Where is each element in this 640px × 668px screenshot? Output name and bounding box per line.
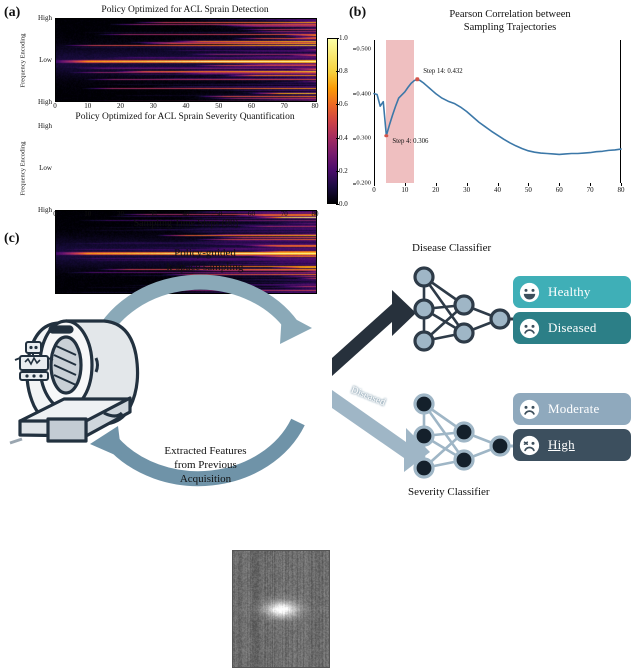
disease-classifier-title: Disease Classifier <box>412 242 491 254</box>
heatmap-2-ytick-2: High <box>38 206 52 214</box>
panel-b-title-line2: Sampling Trajectories <box>385 21 635 34</box>
panel-b-letter: (b) <box>349 5 366 21</box>
heatmap-1-xtick-5: 50 <box>215 102 222 110</box>
heatmap-2-xtick-1: 10 <box>84 210 91 218</box>
scanner-dash-1 <box>10 439 22 443</box>
plot-xtick-5: 50 <box>525 186 532 194</box>
heatmap-2-ytick-1: Low <box>39 164 52 172</box>
plot-xtickline-0 <box>374 183 375 186</box>
heatmap-1-yticks: High Low High <box>30 18 52 102</box>
heatmap-2-yticks: High Low High <box>30 126 52 210</box>
heatmap-1-xtick-2: 20 <box>117 102 124 110</box>
heatmap-1-xtick-6: 60 <box>248 102 255 110</box>
badge-high-label: High <box>548 437 575 453</box>
very-sad-face-icon <box>519 435 540 456</box>
heatmap-1-xtick-4: 40 <box>183 102 190 110</box>
heatmap-2-xtick-3: 30 <box>150 210 157 218</box>
heatmap-2-xtick-8: 80 <box>312 210 319 218</box>
annotation-label-1: Step 14: 0.432 <box>423 68 462 75</box>
kspace-image <box>232 550 330 668</box>
plot-xtick-2: 20 <box>432 186 439 194</box>
plot-xtick-1: 10 <box>401 186 408 194</box>
plot-xtick-4: 40 <box>494 186 501 194</box>
badge-diseased[interactable]: Diseased <box>513 312 631 344</box>
sad-face-icon <box>519 318 540 339</box>
cycle-bottom-line2: from Previous <box>118 458 293 472</box>
heatmap-2-xtick-4: 40 <box>183 210 190 218</box>
heatmap-1-xtick-3: 30 <box>150 102 157 110</box>
heatmap-2-xtick-7: 70 <box>281 210 288 218</box>
badge-healthy-label: Healthy <box>548 284 591 300</box>
plot-xtick-6: 60 <box>556 186 563 194</box>
cycle-bottom-line3: Acquisition <box>118 472 293 486</box>
plot-ytick-0: 0.200 <box>356 180 371 187</box>
panel-a: (a) Policy Optimized for ACL Sprain Dete… <box>0 0 345 228</box>
plot-xtickline-3 <box>467 183 468 186</box>
plot-xtickline-5 <box>528 183 529 186</box>
cycle-top-line1: Policy-guided <box>120 246 290 260</box>
panel-b: (b) Pearson Correlation between Sampling… <box>345 0 640 228</box>
panel-c-letter: (c) <box>4 231 20 247</box>
happy-face-icon <box>519 282 540 303</box>
correlation-plot: 0.2000.3000.4000.500 01020304050607080 S… <box>374 40 621 183</box>
correlation-line <box>374 40 621 183</box>
heatmap-2-ylabel: Frequency Encoding <box>20 141 27 195</box>
heatmap-1-xtick-0: 0 <box>53 102 57 110</box>
badge-diseased-label: Diseased <box>548 320 597 336</box>
disease-classifier-network <box>402 261 532 361</box>
plot-xtick-8: 80 <box>618 186 625 194</box>
panel-a-letter: (a) <box>4 5 20 21</box>
severity-classifier-title: Severity Classifier <box>408 486 490 498</box>
plot-xtickline-2 <box>436 183 437 186</box>
badge-healthy[interactable]: Healthy <box>513 276 631 308</box>
panel-b-title: Pearson Correlation between Sampling Tra… <box>385 8 635 34</box>
cycle-top-line2: k-space sampling <box>120 260 290 274</box>
heatmap-1-ytick-2: High <box>38 98 52 106</box>
heatmap-1-ylabel: Frequency Encoding <box>20 33 27 87</box>
top-arrowhead <box>280 312 312 344</box>
heatmap-1-ytick-1: Low <box>39 56 52 64</box>
plot-xtickline-1 <box>405 183 406 186</box>
heatmap-2-ytick-0: High <box>38 122 52 130</box>
plot-xtick-0: 0 <box>372 186 376 194</box>
plot-xtickline-7 <box>590 183 591 186</box>
heatmap-1-plot <box>55 18 317 102</box>
heatmap-1-canvas <box>56 19 317 102</box>
plot-xtickline-4 <box>498 183 499 186</box>
heatmap-2-xtick-6: 60 <box>248 210 255 218</box>
heatmap-1-ylabel-wrap: Frequency Encoding <box>16 22 30 98</box>
heatmap-2-xtick-5: 50 <box>215 210 222 218</box>
heatmap-2-xtick-2: 20 <box>117 210 124 218</box>
panel-c: (c) Policy-guided k-space sampling Extra… <box>0 228 640 531</box>
plot-xtick-3: 30 <box>463 186 470 194</box>
sad-face-icon <box>519 399 540 420</box>
kspace-canvas <box>233 551 329 667</box>
heatmap-2-title: Policy Optimized for ACL Sprain Severity… <box>40 112 330 122</box>
cycle-top-label: Policy-guided k-space sampling <box>120 246 290 274</box>
plot-ytick-2: 0.400 <box>356 90 371 97</box>
badge-moderate[interactable]: Moderate <box>513 393 631 425</box>
heatmap-1-xtick-1: 10 <box>84 102 91 110</box>
badge-high[interactable]: High <box>513 429 631 461</box>
plot-xtick-7: 70 <box>587 186 594 194</box>
heatmap-2-xtick-0: 0 <box>53 210 57 218</box>
panel-b-title-line1: Pearson Correlation between <box>385 8 635 21</box>
plot-ytick-1: 0.300 <box>356 135 371 142</box>
heatmap-1-xtick-8: 80 <box>312 102 319 110</box>
annotation-label-0: Step 4: 0.306 <box>392 138 428 145</box>
heatmap-1-ytick-0: High <box>38 14 52 22</box>
plot-xtickline-8 <box>621 183 622 186</box>
heatmap-1-title: Policy Optimized for ACL Sprain Detectio… <box>55 5 315 15</box>
robot-icon <box>12 338 60 386</box>
plot-xtickline-6 <box>559 183 560 186</box>
heatmap-2-ylabel-wrap: Frequency Encoding <box>16 130 30 206</box>
plot-ytick-3: 0.500 <box>356 45 371 52</box>
badge-moderate-label: Moderate <box>548 401 599 417</box>
heatmap-1-xtick-7: 70 <box>281 102 288 110</box>
